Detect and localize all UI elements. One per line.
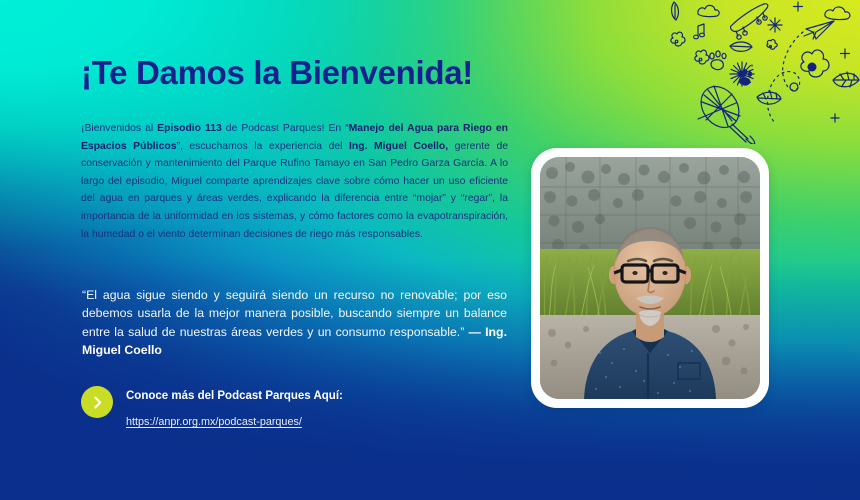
pull-quote: “El agua sigue siendo y seguirá siendo u… (82, 286, 507, 359)
portrait-photo (540, 157, 760, 399)
intro-paragraph: ¡Bienvenidos al Episodio 113 de Podcast … (81, 120, 508, 243)
podcast-link[interactable]: https://anpr.org.mx/podcast-parques/ (126, 416, 302, 428)
chevron-right-icon (91, 396, 104, 409)
cta-arrow-button[interactable] (81, 386, 113, 418)
portrait-frame (531, 148, 769, 408)
content-column: ¡Te Damos la Bienvenida! ¡Bienvenidos al… (81, 0, 521, 500)
welcome-slide: ¡Te Damos la Bienvenida! ¡Bienvenidos al… (0, 0, 860, 500)
page-title: ¡Te Damos la Bienvenida! (81, 54, 473, 92)
cta-heading: Conoce más del Podcast Parques Aquí: (126, 390, 343, 402)
